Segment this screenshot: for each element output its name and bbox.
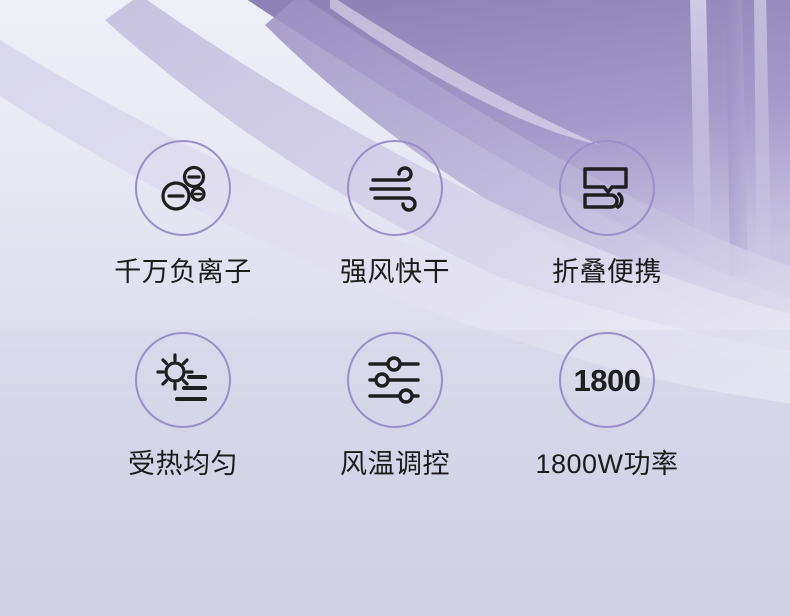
feature-label: 千万负离子 bbox=[114, 259, 252, 286]
feature-item-even-heat[interactable]: 受热均匀 bbox=[135, 332, 231, 478]
product-feature-banner: 千万负离子 强风快干 bbox=[0, 0, 790, 616]
feature-label: 风温调控 bbox=[340, 451, 450, 478]
feature-label: 折叠便携 bbox=[552, 259, 662, 286]
feature-item-foldable[interactable]: 折叠便携 bbox=[559, 140, 655, 286]
wind-icon bbox=[347, 140, 443, 236]
feature-label: 受热均匀 bbox=[128, 451, 238, 478]
feature-grid: 千万负离子 强风快干 bbox=[0, 140, 790, 478]
feature-label: 1800W功率 bbox=[535, 451, 678, 478]
feature-row: 千万负离子 强风快干 bbox=[0, 140, 790, 286]
ribbon-crest-highlight bbox=[330, 0, 600, 145]
foldable-dryer-icon bbox=[559, 140, 655, 236]
feature-item-strong-wind[interactable]: 强风快干 bbox=[347, 140, 443, 286]
wattage-badge-text: 1800 bbox=[574, 365, 641, 396]
feature-item-negative-ion[interactable]: 千万负离子 bbox=[135, 140, 231, 286]
sliders-icon bbox=[347, 332, 443, 428]
feature-label: 强风快干 bbox=[340, 259, 450, 286]
feature-row: 受热均匀 风温调控 1800 bbox=[0, 332, 790, 478]
negative-ion-icon bbox=[135, 140, 231, 236]
sun-heat-icon bbox=[135, 332, 231, 428]
feature-item-temp-control[interactable]: 风温调控 bbox=[347, 332, 443, 478]
wattage-badge: 1800 bbox=[559, 332, 655, 428]
feature-item-wattage[interactable]: 1800 1800W功率 bbox=[559, 332, 655, 478]
